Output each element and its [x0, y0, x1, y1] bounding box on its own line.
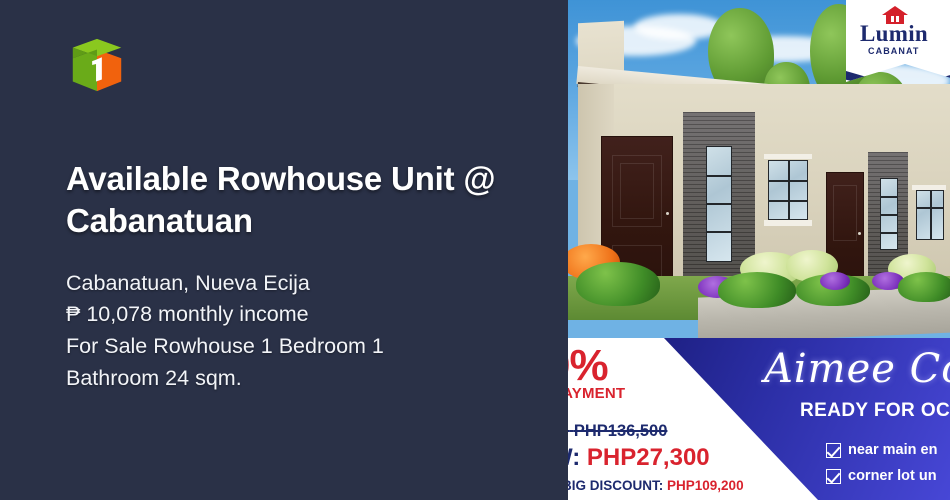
- window-mullion: [707, 175, 731, 177]
- window-mullion: [917, 207, 943, 209]
- promo-discount: BIG DISCOUNT: PHP109,200: [568, 478, 744, 493]
- listing-details: Cabanatuan, Nueva Ecija ₱ 10,078 monthly…: [66, 268, 508, 394]
- promo-old-price-amount: PHP136,500: [574, 422, 668, 440]
- promo-old-price: M: PHP136,500: [568, 422, 667, 441]
- promo-new-price-label: W:: [568, 444, 580, 471]
- shrub: [718, 272, 796, 308]
- feature-item-1: near main en: [826, 442, 937, 458]
- window-mullion: [881, 214, 897, 216]
- checkbox-checked-icon: [826, 469, 841, 484]
- door-panel-inset: [833, 185, 857, 241]
- project-name-script: Aimee Corner: [764, 346, 950, 392]
- lumina-wordmark: Lumin: [846, 23, 950, 46]
- window-mullion: [930, 191, 932, 239]
- house-one-logo: [66, 34, 128, 96]
- window: [768, 160, 808, 220]
- listing-description-line-2: Bathroom 24 sqm.: [66, 363, 508, 395]
- feature-item-2: corner lot un: [826, 468, 937, 484]
- window-mullion: [769, 200, 807, 202]
- purple-flowers: [820, 272, 850, 290]
- promo-new-price-amount: PHP27,300: [587, 444, 710, 471]
- window-mullion: [769, 180, 807, 182]
- lumina-location-label: CABANAT: [846, 46, 950, 56]
- promo-discount-amount: PHP109,200: [667, 478, 744, 493]
- listing-description-line-1: For Sale Rowhouse 1 Bedroom 1: [66, 331, 508, 363]
- promo-percent: 0%: [568, 344, 608, 388]
- window-mullion: [707, 231, 731, 233]
- rowhouse-exterior-photo: Lumin CABANAT 0% NPAYMENT M: PHP136,500 …: [568, 0, 950, 500]
- window-sill: [912, 185, 946, 190]
- promo-old-price-label: M:: [568, 422, 569, 440]
- shrub: [576, 262, 660, 306]
- promo-new-price: W: PHP27,300: [568, 444, 710, 472]
- door-knob: [666, 212, 669, 215]
- window: [880, 178, 898, 250]
- page-title: Available Rowhouse Unit @ Cabanatuan: [66, 158, 496, 242]
- door-panel-inset: [620, 163, 654, 219]
- promo-discount-label: BIG DISCOUNT:: [568, 478, 663, 493]
- window-sill: [764, 220, 812, 226]
- window-sill: [764, 154, 812, 159]
- window-mullion: [881, 232, 897, 234]
- listing-income: ₱ 10,078 monthly income: [66, 299, 508, 331]
- promo-downpayment-label: NPAYMENT: [568, 385, 625, 402]
- checkbox-checked-icon: [826, 443, 841, 458]
- listing-info-panel: Available Rowhouse Unit @ Cabanatuan Cab…: [0, 0, 568, 500]
- property-listing-card: Available Rowhouse Unit @ Cabanatuan Cab…: [0, 0, 950, 500]
- window-mullion: [881, 196, 897, 198]
- listing-location: Cabanatuan, Nueva Ecija: [66, 268, 508, 300]
- window-mullion: [788, 161, 790, 219]
- window-mullion: [707, 203, 731, 205]
- shrub: [898, 272, 950, 302]
- feature-item-1-label: near main en: [848, 442, 937, 458]
- ready-for-occupancy-label: READY FOR OCCUP: [800, 400, 950, 422]
- window: [706, 146, 732, 262]
- window: [916, 190, 944, 240]
- door-knob: [858, 232, 861, 235]
- feature-item-2-label: corner lot un: [848, 468, 937, 484]
- promo-banner: 0% NPAYMENT M: PHP136,500 W: PHP27,300 B…: [568, 338, 950, 500]
